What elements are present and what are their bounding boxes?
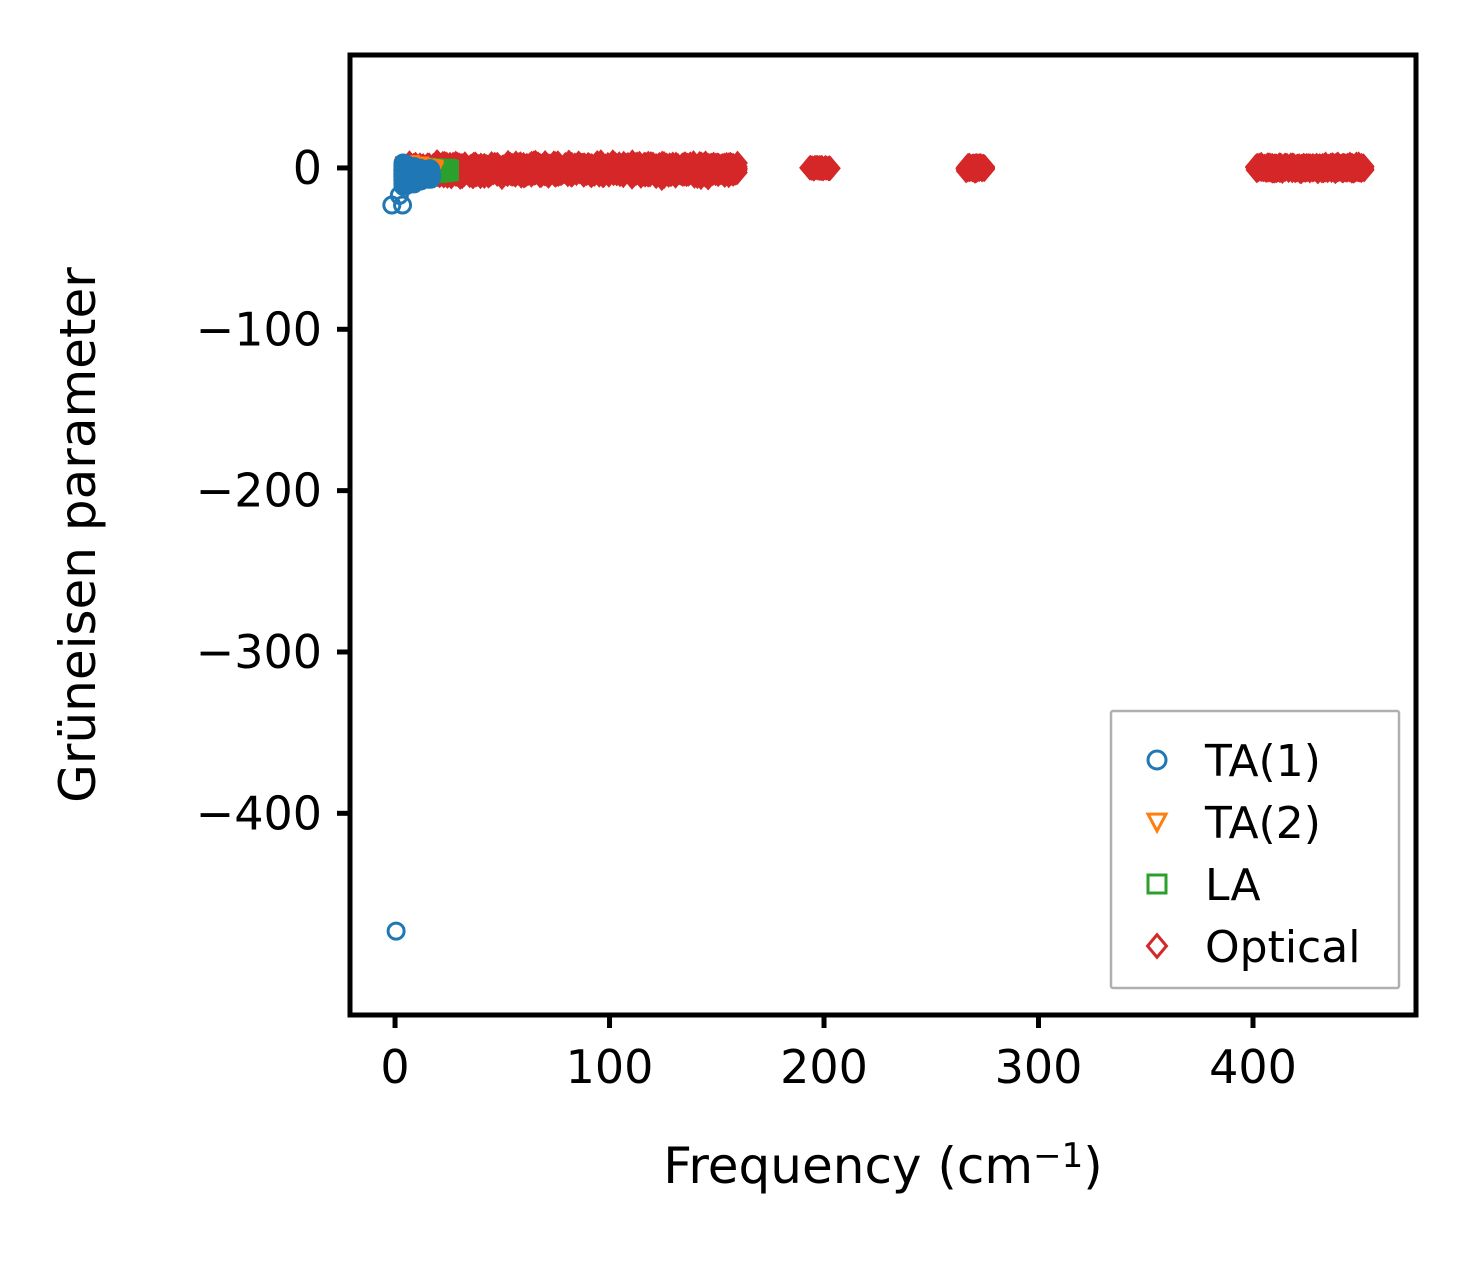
scatter-plot: 01002003004000−100−200−300−400 Frequency… (0, 0, 1480, 1264)
figure-canvas: 01002003004000−100−200−300−400 Frequency… (0, 0, 1480, 1264)
